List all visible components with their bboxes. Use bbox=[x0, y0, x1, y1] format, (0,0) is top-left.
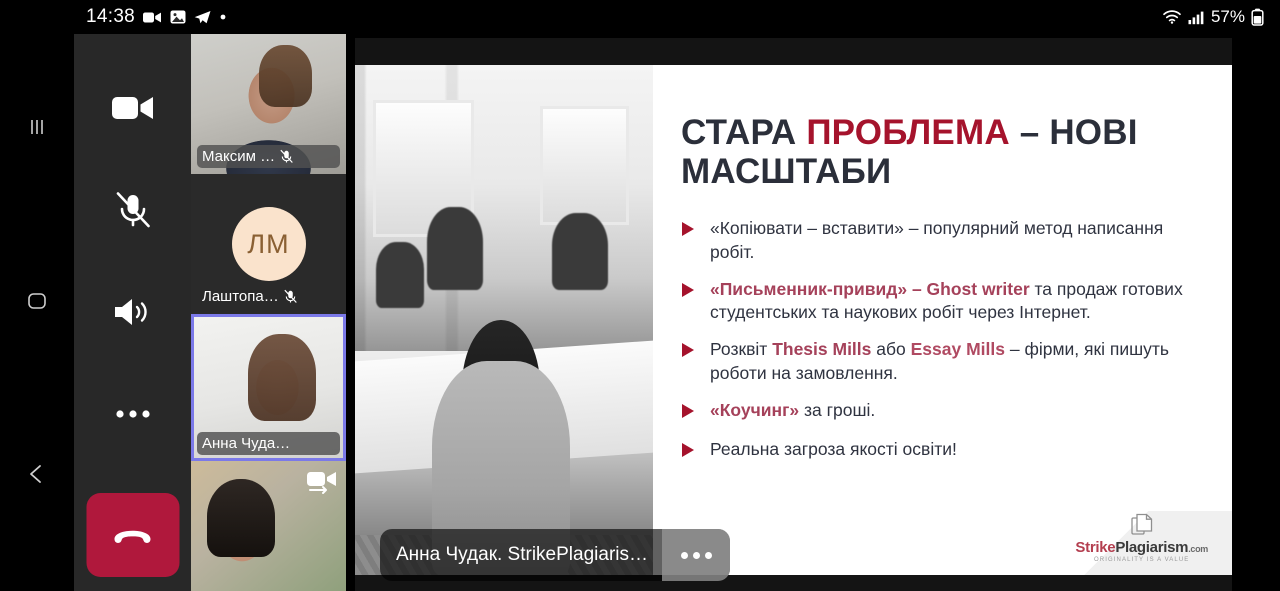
documents-icon bbox=[1075, 513, 1208, 537]
bullet-text-plain: або bbox=[871, 339, 910, 359]
microphone-muted-icon bbox=[279, 149, 294, 164]
presenter-name: Анна Чудак. StrikePlagiaris… bbox=[380, 544, 662, 566]
bullet-text-highlight: «Коучинг» bbox=[710, 400, 799, 420]
image-icon bbox=[170, 9, 186, 25]
presenter-label-bar[interactable]: Анна Чудак. StrikePlagiaris… bbox=[380, 529, 730, 581]
bullet-arrow-icon bbox=[681, 221, 695, 264]
more-dot-icon bbox=[693, 552, 700, 559]
slide-bullet-list: «Копіювати – вставити» – популярний мето… bbox=[681, 217, 1196, 463]
bullet-text-plain: Реальна загроза якості освіти! bbox=[710, 439, 957, 459]
bullet-text-highlight: Essay Mills bbox=[911, 339, 1005, 359]
slide-title-highlight: ПРОБЛЕМА bbox=[806, 113, 1009, 152]
bullet-text-highlight: «Письменник-привид» – Ghost writer bbox=[710, 279, 1030, 299]
slide-bullet-text: «Копіювати – вставити» – популярний мето… bbox=[710, 217, 1196, 264]
status-bar-clock: 14:38 bbox=[86, 6, 135, 28]
slide-title: СТАРА ПРОБЛЕМА – НОВІ МАСШТАБИ bbox=[681, 113, 1196, 191]
slide-bullet: Розквіт Thesis Mills або Essay Mills – ф… bbox=[681, 338, 1196, 385]
android-nav-bar bbox=[0, 0, 74, 591]
bullet-arrow-icon bbox=[681, 403, 695, 424]
logo-domain: .com bbox=[1188, 544, 1208, 554]
more-dot-icon bbox=[681, 552, 688, 559]
window-shape bbox=[540, 106, 629, 224]
participant-name: Лаштопа… bbox=[202, 288, 279, 305]
avatar: ЛМ bbox=[232, 207, 306, 281]
bullet-arrow-icon bbox=[681, 342, 695, 385]
logo-plagiarism: Plagiarism bbox=[1115, 539, 1188, 556]
battery-percent-label: 57% bbox=[1211, 7, 1245, 27]
stage-more-options-button[interactable] bbox=[662, 529, 730, 581]
camera-button[interactable] bbox=[103, 78, 163, 138]
participant-name-badge: Анна Чуда… bbox=[197, 432, 340, 455]
status-bar: 14:38 bbox=[74, 0, 1280, 34]
participant-tile-active-speaker[interactable]: Анна Чуда… bbox=[191, 314, 346, 461]
slide-bullet-text: Реальна загроза якості освіти! bbox=[710, 438, 957, 463]
participant-name: Максим … bbox=[202, 148, 275, 165]
telegram-icon bbox=[194, 10, 211, 25]
phone-hangup-icon bbox=[111, 522, 155, 548]
more-horizontal-icon bbox=[115, 408, 151, 420]
participant-tile[interactable]: ЛМ Лаштопа… bbox=[191, 174, 346, 314]
cellular-signal-icon bbox=[1188, 10, 1205, 25]
more-dot-icon bbox=[705, 552, 712, 559]
participant-name: Анна Чуда… bbox=[202, 435, 290, 452]
presentation-slide: СТАРА ПРОБЛЕМА – НОВІ МАСШТАБИ «Копіюват… bbox=[355, 65, 1232, 575]
microphone-muted-icon bbox=[283, 289, 298, 304]
screen: 14:38 bbox=[0, 0, 1280, 591]
slide-bullet-text: Розквіт Thesis Mills або Essay Mills – ф… bbox=[710, 338, 1196, 385]
logo-strike: Strike bbox=[1075, 539, 1115, 556]
bullet-arrow-icon bbox=[681, 442, 695, 463]
person-silhouette bbox=[376, 242, 424, 307]
slide-photo-upper bbox=[355, 65, 653, 361]
switch-camera-icon bbox=[306, 469, 338, 497]
participant-name-badge: Максим … bbox=[197, 145, 340, 168]
call-controls-toolbar bbox=[74, 34, 191, 591]
speaker-button[interactable] bbox=[103, 282, 163, 342]
slide-body: СТАРА ПРОБЛЕМА – НОВІ МАСШТАБИ «Копіюват… bbox=[653, 65, 1232, 575]
participant-name-badge: Лаштопа… bbox=[197, 285, 340, 308]
slide-bullet: «Коучинг» за гроші. bbox=[681, 399, 1196, 424]
strikeplagiarism-logo: StrikePlagiarism.com ORIGINALITY IS A VA… bbox=[1075, 513, 1208, 563]
bullet-text-plain: «Копіювати – вставити» – популярний мето… bbox=[710, 218, 1163, 261]
recents-icon[interactable] bbox=[20, 110, 54, 144]
bullet-text-highlight: Thesis Mills bbox=[772, 339, 871, 359]
logo-wordmark: StrikePlagiarism.com bbox=[1075, 539, 1208, 556]
participant-filmstrip[interactable]: Максим … ЛМ Лаштопа… bbox=[191, 34, 346, 591]
slide-bullet: Реальна загроза якості освіти! bbox=[681, 438, 1196, 463]
logo-tagline: ORIGINALITY IS A VALUE bbox=[1075, 557, 1208, 563]
slide-bullet-text: «Письменник-привид» – Ghost writer та пр… bbox=[710, 278, 1196, 325]
more-options-button[interactable] bbox=[103, 384, 163, 444]
home-icon[interactable] bbox=[20, 284, 54, 318]
hangup-button[interactable] bbox=[86, 493, 179, 577]
back-icon[interactable] bbox=[20, 457, 54, 491]
slide-bullet: «Письменник-привид» – Ghost writer та пр… bbox=[681, 278, 1196, 325]
participant-tile[interactable]: Максим … bbox=[191, 34, 346, 174]
wifi-icon bbox=[1162, 9, 1182, 25]
switch-camera-button[interactable] bbox=[306, 469, 338, 502]
video-camera-icon bbox=[111, 92, 155, 124]
slide-bullet: «Копіювати – вставити» – популярний мето… bbox=[681, 217, 1196, 264]
person-silhouette bbox=[427, 207, 484, 290]
microphone-button[interactable] bbox=[103, 180, 163, 240]
bullet-text-plain: Розквіт bbox=[710, 339, 772, 359]
video-recorder-icon bbox=[143, 10, 162, 25]
slide-title-part1: СТАРА bbox=[681, 113, 806, 152]
bullet-arrow-icon bbox=[681, 282, 695, 325]
battery-icon bbox=[1251, 8, 1264, 26]
slide-bullet-text: «Коучинг» за гроші. bbox=[710, 399, 875, 424]
dot-icon bbox=[219, 13, 227, 21]
slide-photo bbox=[355, 65, 653, 575]
shared-screen-stage[interactable]: СТАРА ПРОБЛЕМА – НОВІ МАСШТАБИ «Копіюват… bbox=[355, 38, 1232, 591]
bullet-text-plain: за гроші. bbox=[799, 400, 875, 420]
participant-tile-self[interactable] bbox=[191, 461, 346, 591]
speaker-icon bbox=[112, 295, 154, 329]
microphone-muted-icon bbox=[113, 190, 153, 230]
person-silhouette bbox=[552, 213, 609, 290]
